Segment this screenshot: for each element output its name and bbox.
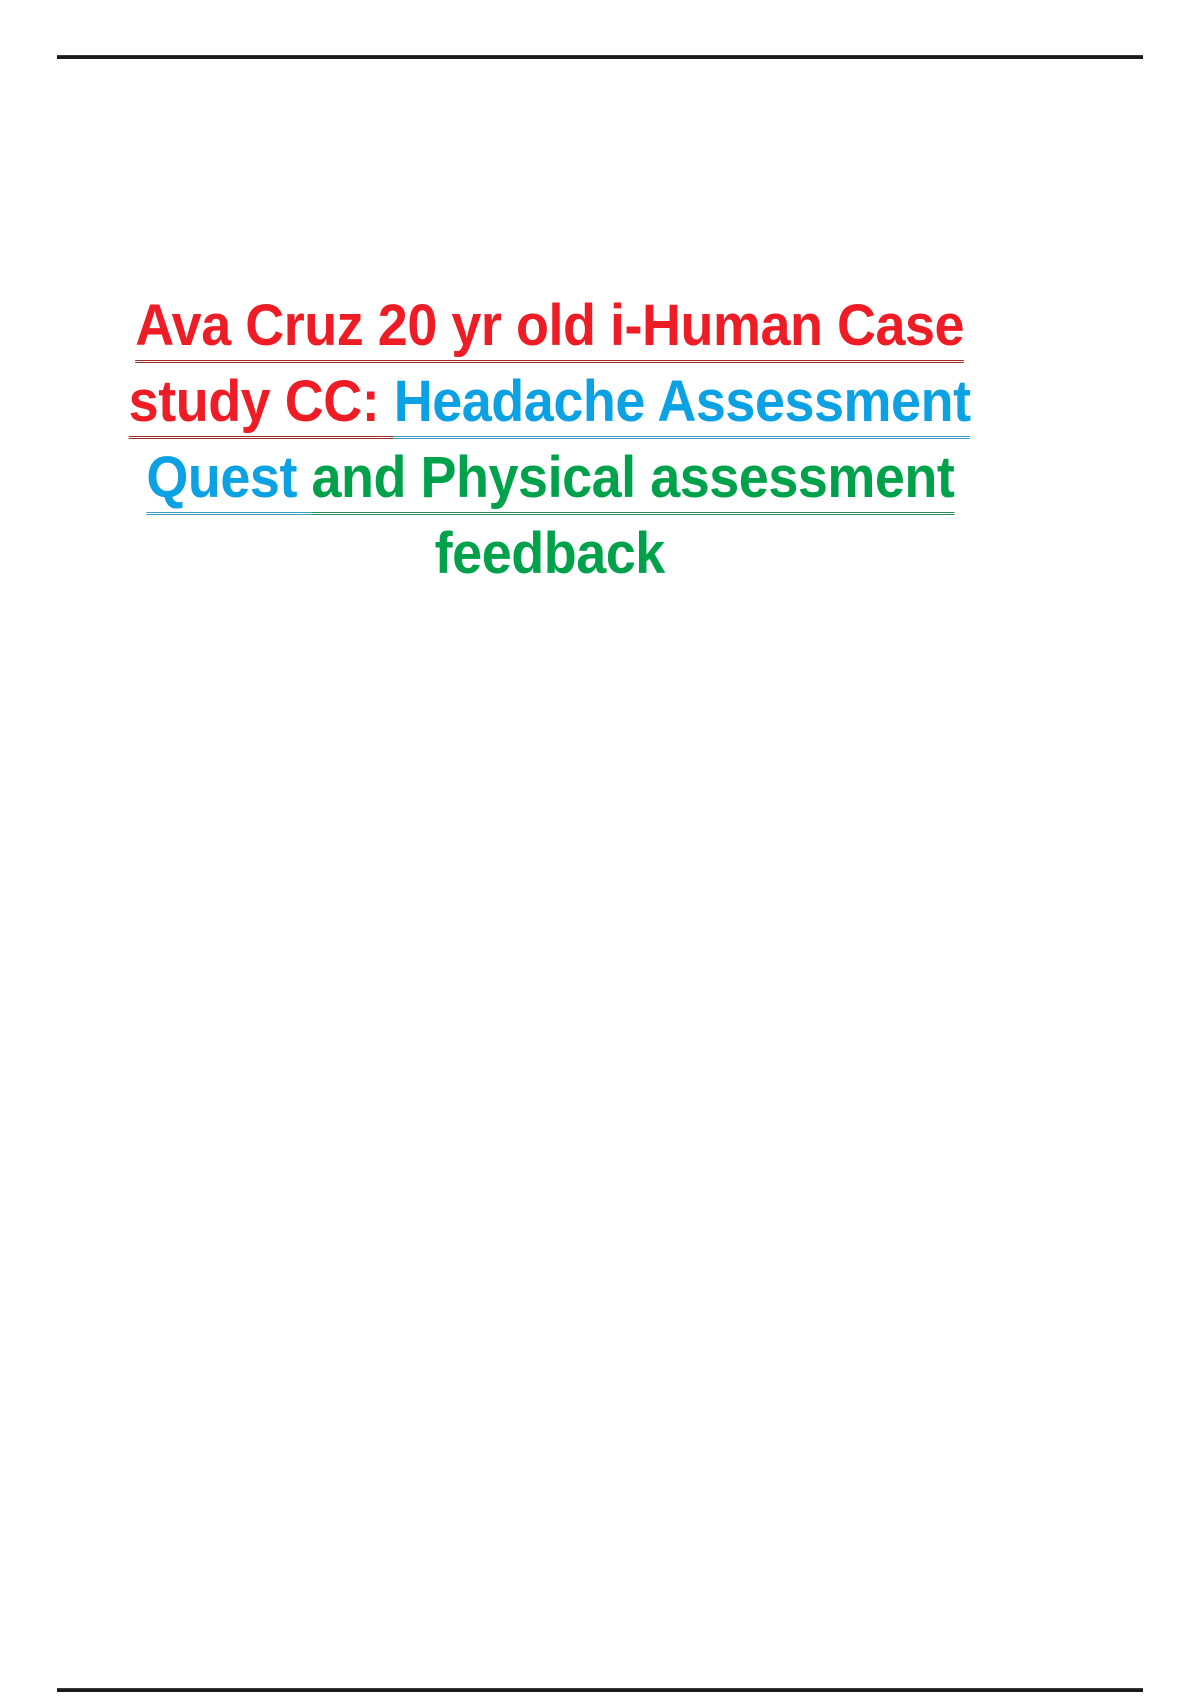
title-line-2: study CC: Headache Assessment bbox=[50, 364, 1050, 440]
header-divider-rule bbox=[57, 55, 1143, 59]
document-page: Ava Cruz 20 yr old i-Human Case study CC… bbox=[0, 0, 1200, 1700]
title-line-4: feedback bbox=[50, 516, 1050, 592]
title-run-red-line2: study CC: bbox=[129, 369, 380, 439]
title-line-3: Quest and Physical assessment bbox=[50, 440, 1050, 516]
title-run-space-line3 bbox=[297, 445, 312, 515]
title-run-blue-line3: Quest bbox=[146, 445, 297, 515]
title-run-red-line1: Ava Cruz 20 yr old i-Human Case bbox=[136, 293, 965, 363]
title-run-space-line2 bbox=[380, 369, 395, 439]
footer-divider-rule bbox=[57, 1688, 1143, 1692]
title-run-green-line3: and Physical assessment bbox=[311, 445, 954, 515]
title-line-1: Ava Cruz 20 yr old i-Human Case bbox=[50, 288, 1050, 364]
title-run-green-line4: feedback bbox=[435, 521, 665, 588]
title-run-blue-line2: Headache Assessment bbox=[394, 369, 971, 439]
document-title: Ava Cruz 20 yr old i-Human Case study CC… bbox=[50, 288, 1050, 592]
